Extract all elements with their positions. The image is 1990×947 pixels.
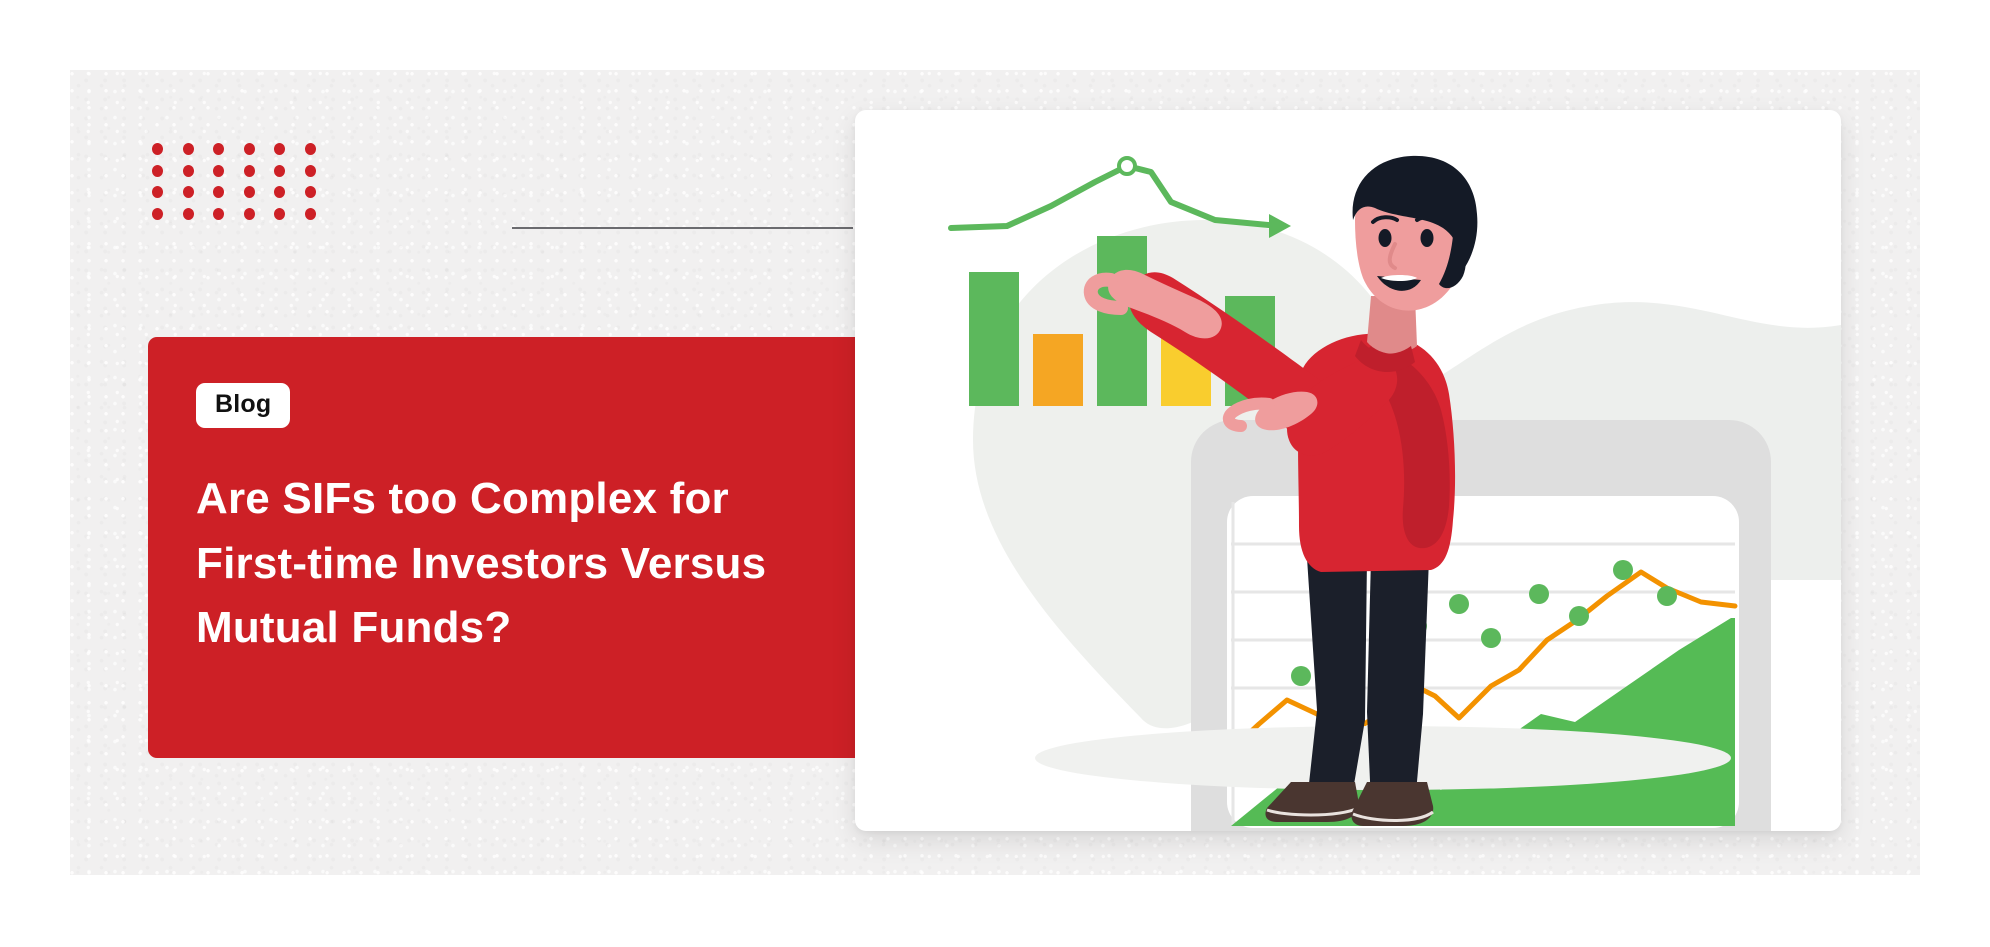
grid-dot: [305, 143, 316, 155]
status-badge: Blog: [196, 383, 290, 428]
bar-1: [969, 272, 1019, 406]
grid-dot: [244, 186, 255, 198]
grid-dot: [183, 165, 194, 177]
grid-dot: [274, 186, 285, 198]
grid-dot: [213, 143, 224, 155]
grid-dot: [152, 208, 163, 220]
grid-dot: [274, 165, 285, 177]
grid-dot: [213, 208, 224, 220]
grid-dot: [305, 208, 316, 220]
grid-dot: [244, 165, 255, 177]
grid-dot: [274, 208, 285, 220]
grid-dot: [213, 165, 224, 177]
grid-dot: [305, 165, 316, 177]
grid-dot: [183, 143, 194, 155]
eye-left: [1379, 229, 1392, 247]
page-title-line-1: Are SIFs too Complex for: [196, 467, 956, 532]
red-dot-grid: [152, 143, 335, 229]
horizontal-rule: [512, 227, 853, 229]
bar-2: [1033, 334, 1083, 406]
trend-marker-point: [1119, 158, 1135, 174]
grid-dot: [274, 143, 285, 155]
illustration-card: [855, 110, 1841, 831]
grid-dot: [305, 186, 316, 198]
grid-dot: [244, 143, 255, 155]
grid-dot: [152, 186, 163, 198]
page-title: Are SIFs too Complex for First-time Inve…: [196, 467, 956, 661]
grid-dot: [183, 208, 194, 220]
investor-analytics-illustration: [855, 110, 1841, 831]
grid-dot: [183, 186, 194, 198]
grid-dot: [213, 186, 224, 198]
page-title-line-2: First-time Investors Versus: [196, 532, 956, 597]
grid-dot: [152, 143, 163, 155]
grid-dot: [152, 165, 163, 177]
green-trend-line: [951, 166, 1279, 228]
grid-dot: [244, 208, 255, 220]
eye-right: [1421, 229, 1434, 247]
page-title-line-3: Mutual Funds?: [196, 596, 956, 661]
